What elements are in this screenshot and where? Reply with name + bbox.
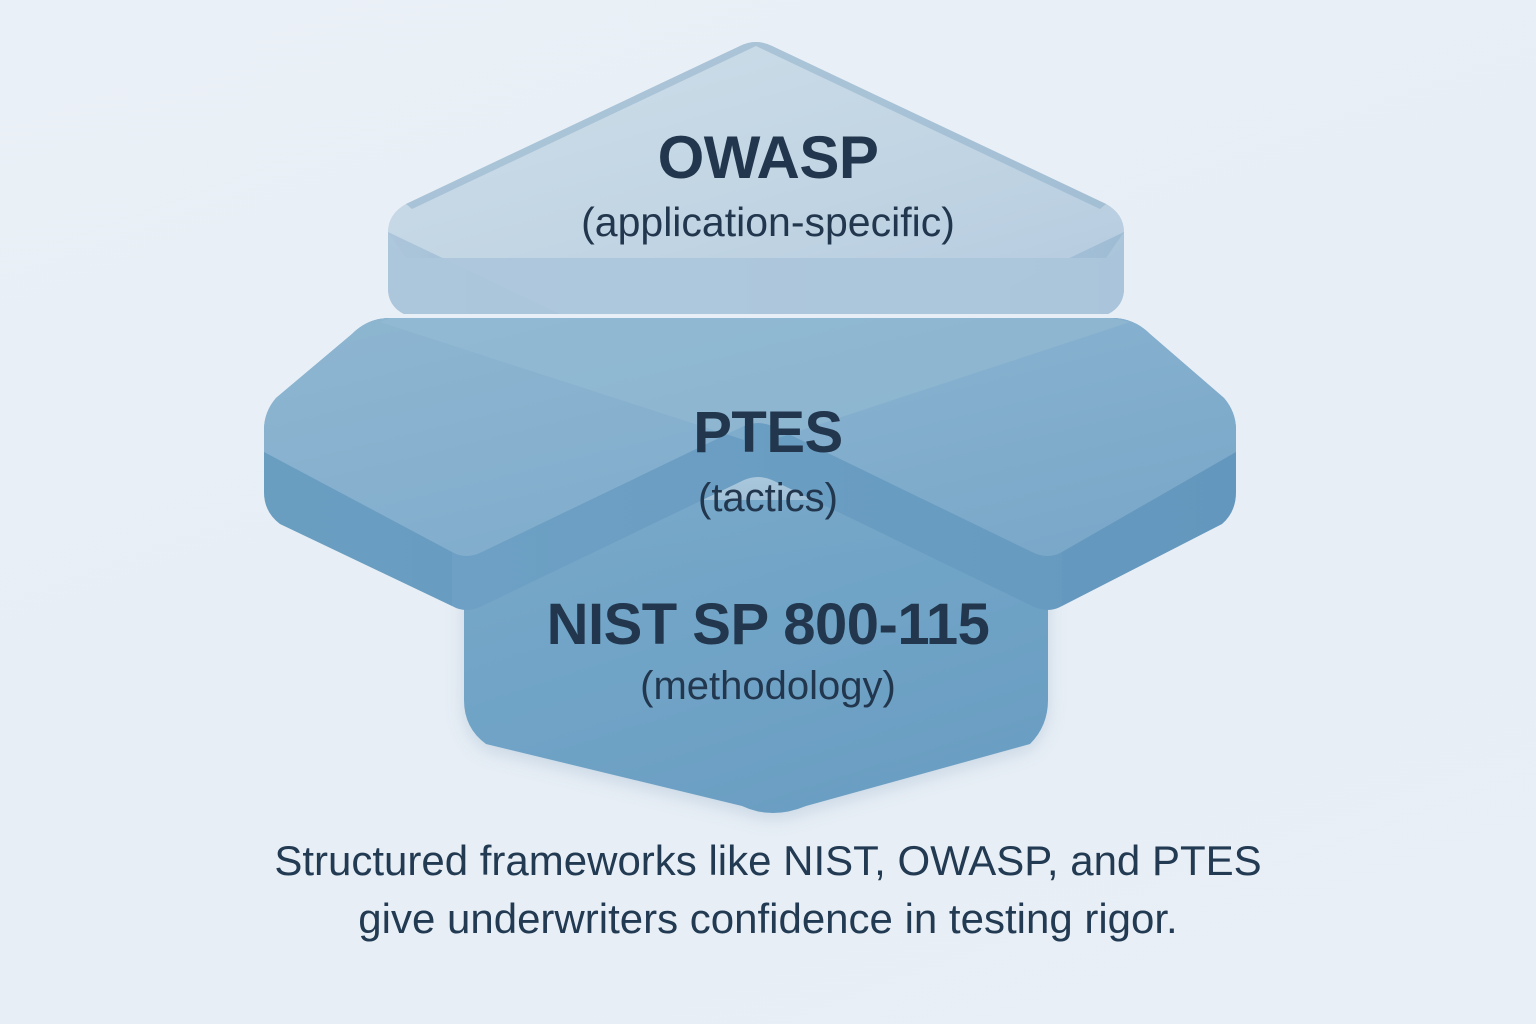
caption-line-1: Structured frameworks like NIST, OWASP, … xyxy=(0,832,1536,890)
caption-line-2: give underwriters confidence in testing … xyxy=(0,890,1536,948)
layer-label-owasp: OWASP (application-specific) xyxy=(0,128,1536,243)
layer-title-ptes: PTES xyxy=(0,404,1536,462)
layer-label-nist: NIST SP 800-115 (methodology) xyxy=(0,596,1536,706)
layer-subtitle-ptes: (tactics) xyxy=(0,478,1536,518)
layer-title-nist: NIST SP 800-115 xyxy=(0,596,1536,654)
layer-label-ptes: PTES (tactics) xyxy=(0,404,1536,518)
diagram-canvas: OWASP (application-specific) PTES (tacti… xyxy=(0,0,1536,1024)
layer-subtitle-nist: (methodology) xyxy=(0,666,1536,706)
layer-subtitle-owasp: (application-specific) xyxy=(0,202,1536,243)
caption: Structured frameworks like NIST, OWASP, … xyxy=(0,832,1536,948)
layer-title-owasp: OWASP xyxy=(0,128,1536,188)
